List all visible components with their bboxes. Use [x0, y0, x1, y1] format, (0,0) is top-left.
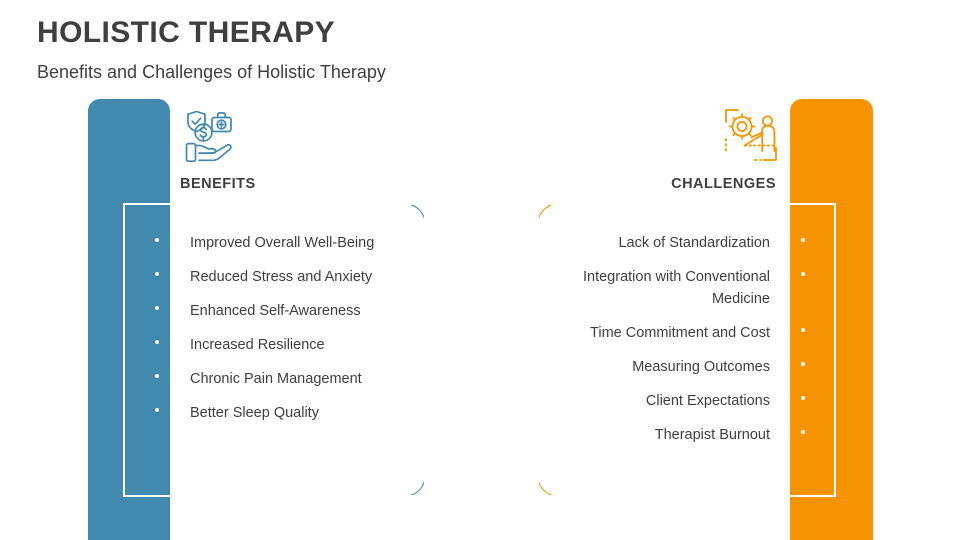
list-item-label: Therapist Burnout — [536, 424, 774, 446]
page-title: HOLISTIC THERAPY — [37, 16, 335, 49]
list-item-label: Lack of Standardization — [536, 232, 774, 254]
bullet-icon — [774, 232, 832, 242]
bullet-icon — [774, 390, 832, 400]
list-item-label: Client Expectations — [536, 390, 774, 412]
list-item: Client Expectations — [536, 390, 832, 412]
hand-holding-shield-medical-money-icon — [180, 108, 236, 164]
slide-canvas: HOLISTIC THERAPY Benefits and Challenges… — [0, 0, 960, 540]
list-item-label: Integration with Conventional Medicine — [536, 266, 774, 310]
list-item-label: Better Sleep Quality — [186, 402, 424, 424]
list-item: Increased Resilience — [128, 334, 424, 356]
list-item-label: Improved Overall Well-Being — [186, 232, 424, 254]
list-item: Integration with Conventional Medicine — [536, 266, 832, 310]
benefits-list: Improved Overall Well-Being Reduced Stre… — [128, 232, 424, 436]
list-item-label: Measuring Outcomes — [536, 356, 774, 378]
list-item: Time Commitment and Cost — [536, 322, 832, 344]
bullet-icon — [128, 266, 186, 276]
bullet-icon — [774, 266, 832, 276]
list-item-label: Chronic Pain Management — [186, 368, 424, 390]
list-item: Measuring Outcomes — [536, 356, 832, 378]
bullet-icon — [128, 334, 186, 344]
list-item: Therapist Burnout — [536, 424, 832, 446]
list-item: Lack of Standardization — [536, 232, 832, 254]
list-item-label: Enhanced Self-Awareness — [186, 300, 424, 322]
list-item-label: Time Commitment and Cost — [536, 322, 774, 344]
bullet-icon — [128, 402, 186, 412]
list-item: Enhanced Self-Awareness — [128, 300, 424, 322]
person-pushing-gear-obstacle-icon — [722, 106, 780, 164]
list-item: Better Sleep Quality — [128, 402, 424, 424]
bullet-icon — [128, 232, 186, 242]
list-item: Chronic Pain Management — [128, 368, 424, 390]
list-item-label: Increased Resilience — [186, 334, 424, 356]
bullet-icon — [774, 356, 832, 366]
bullet-icon — [128, 368, 186, 378]
benefits-heading: BENEFITS — [180, 177, 256, 192]
list-item: Improved Overall Well-Being — [128, 232, 424, 254]
bullet-icon — [774, 424, 832, 434]
page-subtitle: Benefits and Challenges of Holistic Ther… — [37, 62, 386, 84]
bullet-icon — [128, 300, 186, 310]
challenges-heading: CHALLENGES — [600, 177, 776, 192]
challenges-list: Lack of Standardization Integration with… — [536, 232, 832, 458]
list-item: Reduced Stress and Anxiety — [128, 266, 424, 288]
list-item-label: Reduced Stress and Anxiety — [186, 266, 424, 288]
bullet-icon — [774, 322, 832, 332]
